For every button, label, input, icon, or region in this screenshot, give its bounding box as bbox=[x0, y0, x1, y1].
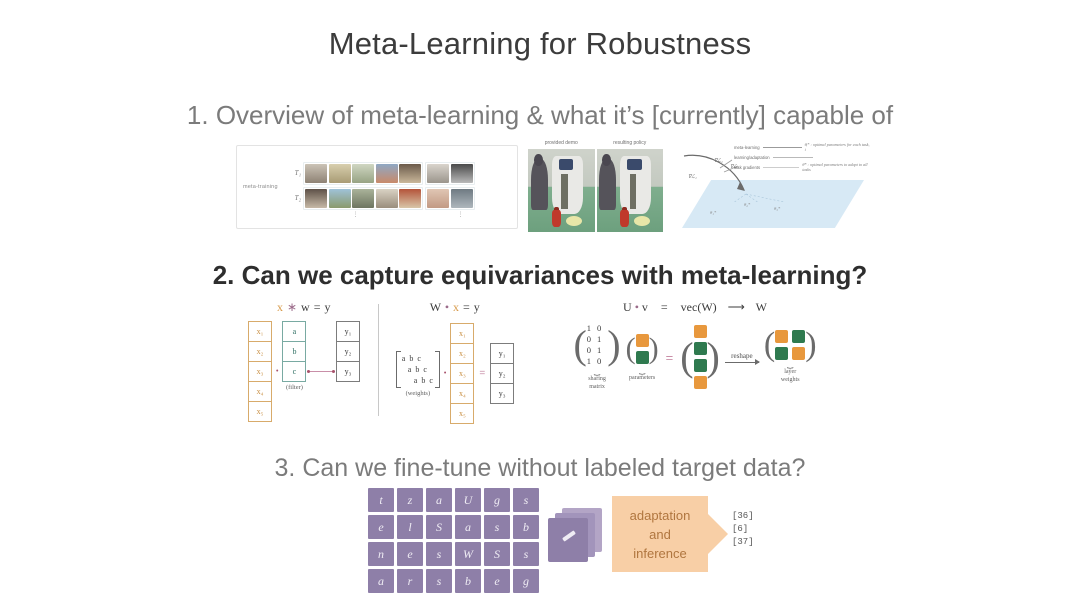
output-vector: y₁ y₂ y₃ bbox=[490, 343, 514, 404]
arrow-right-icon bbox=[706, 512, 728, 556]
filter-cell: a bbox=[282, 321, 306, 342]
label-line: matrix bbox=[573, 383, 620, 391]
character-tile: z bbox=[397, 488, 423, 512]
layer-weights-label: layer weights bbox=[764, 368, 817, 384]
label-line: sharing bbox=[573, 375, 620, 383]
equation-equals: = bbox=[651, 300, 678, 314]
weight-rows: a b c a b c a b c bbox=[401, 351, 435, 388]
output-vector: y₁ y₂ y₃ bbox=[336, 321, 360, 382]
output-cell: y₁ bbox=[490, 343, 514, 364]
filter-label: (filter) bbox=[282, 384, 306, 391]
layer-block-orange bbox=[775, 330, 788, 343]
input-cell: x₅ bbox=[450, 404, 474, 424]
provided-demo-panel: provided demo bbox=[528, 140, 595, 232]
parameter-blocks bbox=[636, 332, 649, 366]
page-title: Meta-Learning for Robustness bbox=[0, 26, 1080, 62]
output-cell: y₃ bbox=[336, 362, 360, 382]
image-tile bbox=[352, 189, 374, 208]
image-tile bbox=[329, 189, 351, 208]
vec-block-orange bbox=[694, 376, 707, 389]
character-tile: S bbox=[484, 542, 510, 566]
paren-right: ) bbox=[649, 338, 659, 360]
input-vector: x₁ x₂ x₃ x₄ x₅ bbox=[248, 321, 272, 422]
sharing-matrix-values: 10 01 01 10 bbox=[587, 323, 608, 367]
equation-term-W: W bbox=[430, 300, 442, 314]
character-tile: e bbox=[484, 569, 510, 593]
figure-row-1: meta-training T₁ bbox=[0, 140, 1080, 240]
adaptation-line-3: inference bbox=[633, 544, 686, 563]
label-line: layer bbox=[764, 368, 817, 376]
panel-divider bbox=[378, 304, 379, 416]
equation-arrow: ⟶ bbox=[720, 300, 753, 314]
filter-cell: c bbox=[282, 362, 306, 382]
filter-vector: a b c bbox=[282, 321, 306, 382]
input-cell: x₁ bbox=[450, 323, 474, 344]
citation-list: [36] [6] [37] bbox=[732, 510, 754, 549]
image-tile bbox=[399, 164, 421, 183]
weight-row: a b c bbox=[402, 364, 434, 375]
brace-icon: ⏟ bbox=[573, 367, 620, 373]
character-tile: e bbox=[368, 515, 394, 539]
theta-star-node: θ₃* bbox=[774, 206, 780, 211]
gradient-label: ∇ℒ₁ bbox=[688, 174, 697, 180]
character-tile: a bbox=[426, 488, 452, 512]
equation-term-U: U bbox=[623, 300, 632, 314]
sharing-matrix-group: ( 10 01 01 10 bbox=[573, 323, 620, 367]
matrix-cell: 0 bbox=[597, 323, 607, 333]
legend-row: task gradients θ* : optimal parameters t… bbox=[734, 162, 870, 172]
question-1-heading: 1. Overview of meta-learning & what it’s… bbox=[0, 100, 1080, 131]
weights-label: (weights) bbox=[396, 390, 440, 397]
layer-weights-column: ( ) ⏟ layer weights bbox=[764, 330, 817, 384]
reshape-arrow-icon bbox=[725, 362, 759, 363]
image-tile bbox=[305, 189, 327, 208]
task-label: T₂ bbox=[289, 194, 301, 202]
vec-w-column: ( ) bbox=[680, 323, 720, 391]
legend-label: learning/adaptation bbox=[734, 155, 770, 160]
provided-demo-caption: provided demo bbox=[528, 140, 595, 149]
brace-icon: ⏟ bbox=[626, 366, 659, 372]
input-cell: x₄ bbox=[450, 384, 474, 404]
person-body bbox=[599, 159, 616, 210]
weight-row: a b c bbox=[402, 375, 434, 386]
theta-note: θᵢ* : optimal parameters for each task, … bbox=[805, 142, 870, 152]
equation-op-dot: • bbox=[635, 300, 639, 314]
image-tile bbox=[305, 164, 327, 183]
matrix-body: a b c a b c a b c (weights) • x₁ x₂ x₃ x… bbox=[390, 323, 520, 424]
legend-label: meta-learning bbox=[734, 145, 760, 150]
image-tile bbox=[329, 164, 351, 183]
output-cell: y₂ bbox=[336, 342, 360, 362]
equation-equals: = bbox=[463, 300, 470, 314]
character-tile: g bbox=[484, 488, 510, 512]
red-bottle bbox=[620, 210, 629, 227]
task-label: T₁ bbox=[289, 169, 301, 177]
equation-term-y: y bbox=[325, 300, 332, 314]
sharing-matrix-figure: U • v = vec(W) ⟶ W ( 10 bbox=[565, 300, 825, 391]
character-tile: s bbox=[426, 569, 452, 593]
legend-row: learning/adaptation bbox=[734, 152, 870, 162]
support-set bbox=[303, 187, 423, 210]
parameters-label: parameters bbox=[626, 374, 659, 382]
convolution-equation: x ∗ w = y bbox=[248, 300, 360, 315]
legend-line bbox=[763, 167, 799, 168]
matrix-cell: 0 bbox=[587, 334, 597, 344]
figure-row-2: x ∗ w = y x₁ x₂ x₃ x₄ x₅ • a b bbox=[0, 300, 1080, 425]
question-3-heading: 3. Can we fine-tune without labeled targ… bbox=[0, 454, 1080, 483]
person-body bbox=[531, 159, 548, 210]
layer-weight-blocks bbox=[775, 330, 805, 360]
question-2-heading: 2. Can we capture equivariances with met… bbox=[0, 260, 1080, 291]
image-tile bbox=[376, 189, 398, 208]
sharing-matrix-label: sharing matrix bbox=[573, 375, 620, 391]
sharing-equals-sign: = bbox=[664, 350, 676, 365]
input-cell: x₁ bbox=[248, 321, 272, 342]
input-cell: x₃ bbox=[248, 362, 272, 382]
gradient-label: ∇ℒ₂ bbox=[714, 158, 723, 164]
figure-row-3: t z a U g s e l S a s b n e s W S s a r … bbox=[0, 488, 1080, 598]
matrix-row: 10 bbox=[587, 323, 608, 334]
meta-training-figure: meta-training T₁ bbox=[236, 145, 518, 229]
matrix-equation: W • x = y bbox=[390, 300, 520, 315]
equation-term-w: w bbox=[301, 300, 310, 314]
paren-left: ( bbox=[626, 338, 636, 360]
matrix-cell: 1 bbox=[587, 323, 597, 333]
adaptation-inference-box: adaptation and inference bbox=[612, 496, 708, 572]
image-tile bbox=[376, 164, 398, 183]
person-head bbox=[534, 154, 543, 166]
convolution-figure: x ∗ w = y x₁ x₂ x₃ x₄ x₅ • a b bbox=[248, 300, 360, 422]
equation-term-W: W bbox=[756, 300, 767, 314]
meta-training-label: meta-training bbox=[237, 184, 289, 190]
output-cell: y₁ bbox=[336, 321, 360, 342]
input-cell: x₅ bbox=[248, 402, 272, 422]
legend-row: meta-learning θᵢ* : optimal parameters f… bbox=[734, 142, 870, 152]
resulting-policy-panel: resulting policy bbox=[597, 140, 664, 232]
robot-column bbox=[630, 174, 637, 209]
meta-training-rows: T₁ T₂ bbox=[289, 157, 517, 218]
data-card-stack bbox=[548, 508, 606, 564]
character-tile: a bbox=[368, 569, 394, 593]
input-cell: x₃ bbox=[450, 364, 474, 384]
character-tile: s bbox=[513, 542, 539, 566]
support-set bbox=[303, 162, 423, 185]
image-tile bbox=[399, 189, 421, 208]
resulting-policy-image bbox=[597, 149, 664, 232]
output-cell: y₃ bbox=[490, 384, 514, 404]
equation-op-dot: • bbox=[445, 300, 450, 314]
character-tile: s bbox=[426, 542, 452, 566]
robot-screen bbox=[627, 159, 642, 170]
meta-training-ellipsis: ⋮ ⋮ bbox=[289, 212, 513, 218]
convolution-body: x₁ x₂ x₃ x₄ x₅ • a b c (filter) bbox=[248, 321, 360, 422]
legend-line bbox=[773, 157, 813, 158]
parameters-column: ( ) ⏟ parameters bbox=[626, 332, 659, 382]
image-tile bbox=[451, 189, 473, 208]
filter-cell: b bbox=[282, 342, 306, 362]
weight-matrix-column: a b c a b c a b c (weights) bbox=[396, 351, 440, 397]
card-front bbox=[548, 518, 588, 562]
matrix-row: 01 bbox=[587, 334, 608, 345]
image-tile bbox=[451, 164, 473, 183]
meta-training-row: T₂ bbox=[289, 187, 513, 210]
parameter-block-orange bbox=[636, 334, 649, 347]
character-tile: b bbox=[455, 569, 481, 593]
character-tile: a bbox=[455, 515, 481, 539]
vec-block-green bbox=[694, 342, 707, 355]
character-tile: b bbox=[513, 515, 539, 539]
citation: [6] bbox=[732, 523, 754, 536]
legend-line bbox=[763, 147, 802, 148]
character-tile: n bbox=[368, 542, 394, 566]
theta-star-node: θ₁* bbox=[710, 210, 716, 215]
reshape-label: reshape bbox=[725, 352, 759, 360]
layer-block-green bbox=[792, 330, 805, 343]
matrix-cell: 0 bbox=[587, 345, 597, 355]
parameters-group: ( ) bbox=[626, 332, 659, 366]
query-set bbox=[425, 162, 475, 185]
matrix-form-figure: W • x = y a b c a b c a b c bbox=[390, 300, 520, 424]
vec-w-group: ( ) bbox=[680, 323, 720, 391]
input-vector: x₁ x₂ x₃ x₄ x₅ bbox=[450, 323, 474, 424]
bracket-right bbox=[435, 351, 440, 388]
weight-matrix: a b c a b c a b c bbox=[396, 351, 440, 388]
paren-left: ( bbox=[680, 343, 693, 372]
maml-legend: meta-learning θᵢ* : optimal parameters f… bbox=[734, 142, 870, 178]
character-tile: t bbox=[368, 488, 394, 512]
output-cell: y₂ bbox=[490, 364, 514, 384]
yellow-plate bbox=[566, 216, 582, 226]
character-tile: s bbox=[484, 515, 510, 539]
sharing-equation: U • v = vec(W) ⟶ W bbox=[565, 300, 825, 315]
adaptation-line-2: and bbox=[649, 525, 671, 544]
paren-right: ) bbox=[607, 331, 620, 360]
equation-term-x: x bbox=[453, 300, 460, 314]
ellipsis: ⋮ bbox=[458, 213, 464, 218]
reshape-column: reshape bbox=[725, 352, 759, 363]
red-bottle bbox=[552, 210, 561, 227]
input-cell: x₄ bbox=[248, 382, 272, 402]
ellipsis: ⋮ bbox=[353, 213, 359, 218]
layer-weights-group: ( ) bbox=[764, 330, 817, 360]
legend-label: task gradients bbox=[734, 165, 760, 170]
meta-training-row: T₁ bbox=[289, 162, 513, 185]
equation-term-y: y bbox=[474, 300, 481, 314]
paren-left: ( bbox=[573, 331, 586, 360]
matrix-cell: 1 bbox=[597, 345, 607, 355]
citation: [36] bbox=[732, 510, 754, 523]
equation-op-conv: ∗ bbox=[287, 300, 298, 314]
image-tile bbox=[427, 189, 449, 208]
equation-equals: = bbox=[314, 300, 321, 314]
character-tile: g bbox=[513, 569, 539, 593]
equation-term-vecW: vec(W) bbox=[681, 300, 717, 314]
theta-star-node: θ₂* bbox=[744, 202, 750, 207]
maml-diagram: ∇ℒ₁ ∇ℒ₂ ∇ℒ₃ θ₁* θ₂* θ₃* meta-learning θᵢ… bbox=[678, 140, 870, 232]
image-tile bbox=[352, 164, 374, 183]
robot-screen bbox=[559, 159, 574, 170]
sharing-matrix-column: ( 10 01 01 10 bbox=[573, 323, 620, 391]
character-tile: e bbox=[397, 542, 423, 566]
character-tile: s bbox=[513, 488, 539, 512]
paren-right: ) bbox=[707, 343, 720, 372]
adaptation-line-1: adaptation bbox=[630, 506, 691, 525]
handwriting-character-grid: t z a U g s e l S a s b n e s W S s a r … bbox=[368, 488, 539, 593]
vec-w-blocks bbox=[694, 323, 707, 391]
layer-block-orange bbox=[792, 347, 805, 360]
citation: [37] bbox=[732, 536, 754, 549]
paren-left: ( bbox=[764, 333, 775, 357]
input-cell: x₂ bbox=[248, 342, 272, 362]
character-tile: r bbox=[397, 569, 423, 593]
conv-dot-operator: • bbox=[275, 368, 279, 375]
vec-block-green bbox=[694, 359, 707, 372]
character-tile: l bbox=[397, 515, 423, 539]
input-cell: x₂ bbox=[450, 344, 474, 364]
weight-row: a b c bbox=[402, 353, 434, 364]
vec-block-orange bbox=[694, 325, 707, 338]
equation-term-x: x bbox=[277, 300, 284, 314]
label-line: weights bbox=[764, 376, 817, 384]
equation-term-v: v bbox=[642, 300, 648, 314]
robot-column bbox=[561, 174, 568, 209]
matrix-dot-operator: • bbox=[443, 370, 447, 377]
robot-demo-figure: provided demo resulting policy bbox=[528, 140, 663, 232]
matrix-row: 01 bbox=[587, 345, 608, 356]
conv-connection bbox=[309, 371, 333, 372]
paren-right: ) bbox=[805, 333, 816, 357]
matrix-cell: 1 bbox=[597, 334, 607, 344]
character-tile: W bbox=[455, 542, 481, 566]
query-set bbox=[425, 187, 475, 210]
matrix-equals-sign: = bbox=[477, 368, 487, 379]
character-tile: S bbox=[426, 515, 452, 539]
sharing-body: ( 10 01 01 10 bbox=[565, 323, 825, 391]
slide-root: Meta-Learning for Robustness 1. Overview… bbox=[0, 0, 1080, 608]
yellow-plate bbox=[634, 216, 650, 226]
provided-demo-image bbox=[528, 149, 595, 232]
theta-note: θ* : optimal parameters to adapt to all … bbox=[802, 162, 870, 172]
image-tile bbox=[427, 164, 449, 183]
person-head bbox=[602, 154, 611, 166]
resulting-policy-caption: resulting policy bbox=[597, 140, 664, 149]
character-tile: U bbox=[455, 488, 481, 512]
filter-column: a b c (filter) bbox=[282, 321, 306, 391]
